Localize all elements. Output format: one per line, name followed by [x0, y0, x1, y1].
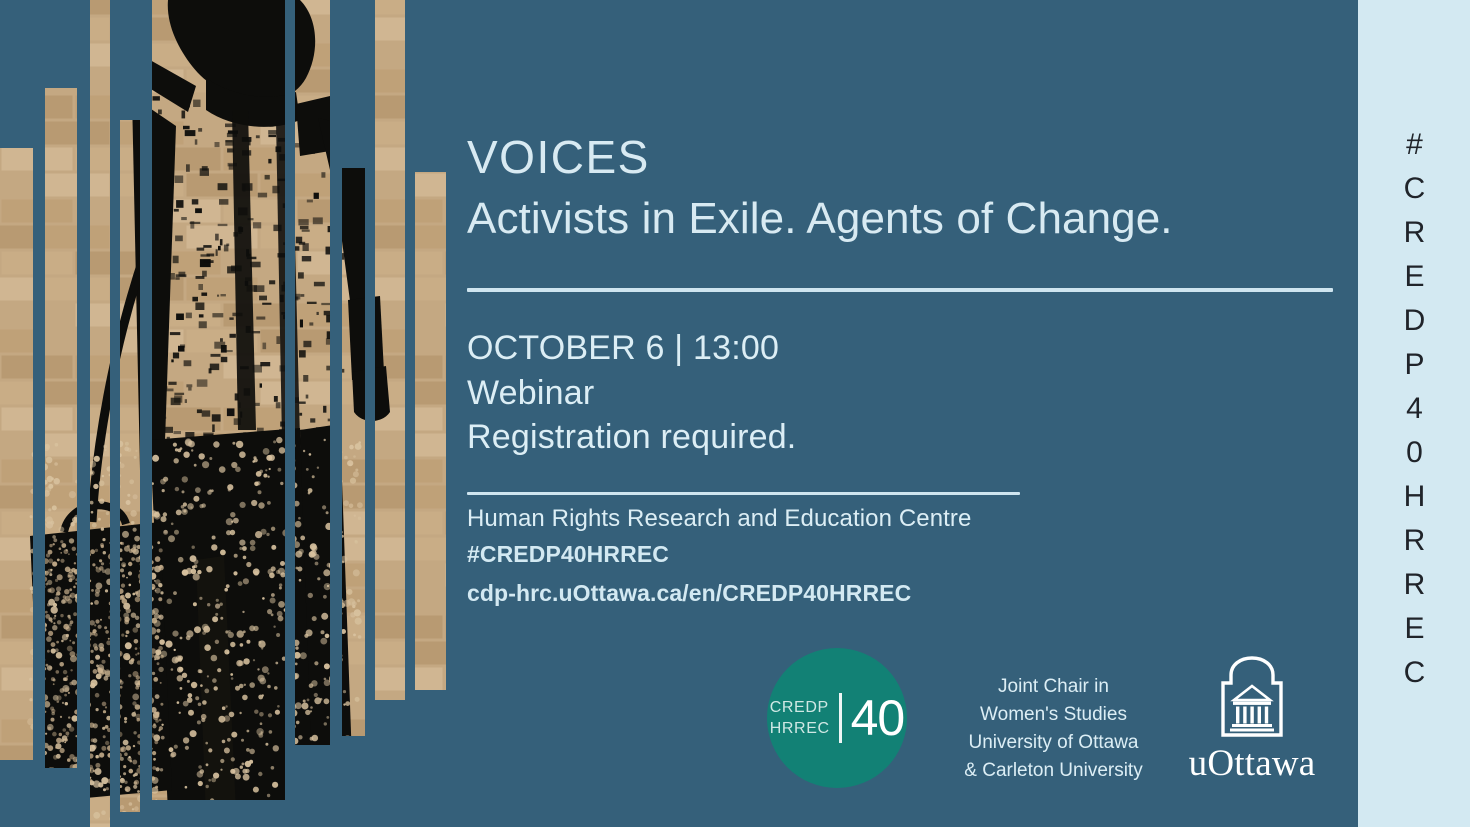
artwork-strip — [120, 120, 140, 812]
credp-logo-line2: HRREC — [770, 718, 830, 739]
vertical-hashtag-text: #CREDP40HRREC — [1399, 128, 1429, 700]
artwork-panel — [0, 0, 446, 827]
artwork-strip — [0, 148, 33, 760]
artwork-strip-image — [120, 120, 140, 812]
divider-top — [467, 288, 1333, 292]
artwork-strip-image — [0, 148, 33, 760]
title-block: VOICES Activists in Exile. Agents of Cha… — [467, 133, 1333, 246]
artwork-strip — [90, 0, 110, 827]
uottawa-logo: uOttawa — [1172, 653, 1332, 782]
joint-chair-line3: University of Ottawa — [961, 729, 1146, 757]
artwork-strip — [342, 168, 365, 736]
joint-chair-line4: & Carleton University — [961, 757, 1146, 785]
artwork-strip-image — [90, 0, 110, 827]
credp-logo-divider — [839, 693, 842, 743]
event-datetime: OCTOBER 6 | 13:00 — [467, 326, 1333, 371]
joint-chair-line2: Women's Studies — [961, 701, 1146, 729]
organizer-meta: Human Rights Research and Education Cent… — [467, 503, 1333, 614]
divider-bottom — [467, 492, 1020, 495]
artwork-strip — [152, 0, 285, 800]
credp-anniversary-number: 40 — [851, 695, 905, 741]
artwork-strip-image — [152, 0, 285, 800]
uottawa-crest-icon — [1209, 653, 1295, 739]
event-registration-note: Registration required. — [467, 415, 1333, 460]
content-column: VOICES Activists in Exile. Agents of Cha… — [467, 0, 1333, 827]
event-format: Webinar — [467, 371, 1333, 416]
joint-chair-credit: Joint Chair in Women's Studies Universit… — [961, 673, 1146, 785]
artwork-strip — [415, 172, 446, 690]
page-title: VOICES — [467, 133, 1333, 183]
credp-hrrec-40-logo: CREDP HRREC 40 — [767, 648, 907, 788]
credp-logo-line1: CREDP — [770, 697, 829, 718]
event-url[interactable]: cdp-hrc.uOttawa.ca/en/CREDP40HRREC — [467, 574, 1333, 613]
vertical-hashtag-bar: #CREDP40HRREC — [1358, 0, 1470, 827]
organizer-name: Human Rights Research and Education Cent… — [467, 503, 1333, 535]
page-subtitle: Activists in Exile. Agents of Change. — [467, 191, 1333, 246]
joint-chair-line1: Joint Chair in — [961, 673, 1146, 701]
event-hashtag: #CREDP40HRREC — [467, 535, 1333, 574]
artwork-strip — [45, 88, 77, 768]
artwork-strip — [295, 0, 330, 745]
artwork-strip-image — [342, 168, 365, 736]
event-details: OCTOBER 6 | 13:00 Webinar Registration r… — [467, 326, 1333, 460]
artwork-strip-image — [375, 0, 405, 700]
logo-row: CREDP HRREC 40 Joint Chair in Women's St… — [767, 645, 1333, 805]
artwork-strip-image — [415, 172, 446, 690]
artwork-strip-image — [45, 88, 77, 768]
artwork-strip-image — [295, 0, 330, 745]
uottawa-wordmark: uOttawa — [1172, 745, 1332, 782]
artwork-strip — [375, 0, 405, 700]
event-poster: #CREDP40HRREC VOICES Activists in Exile.… — [0, 0, 1470, 827]
